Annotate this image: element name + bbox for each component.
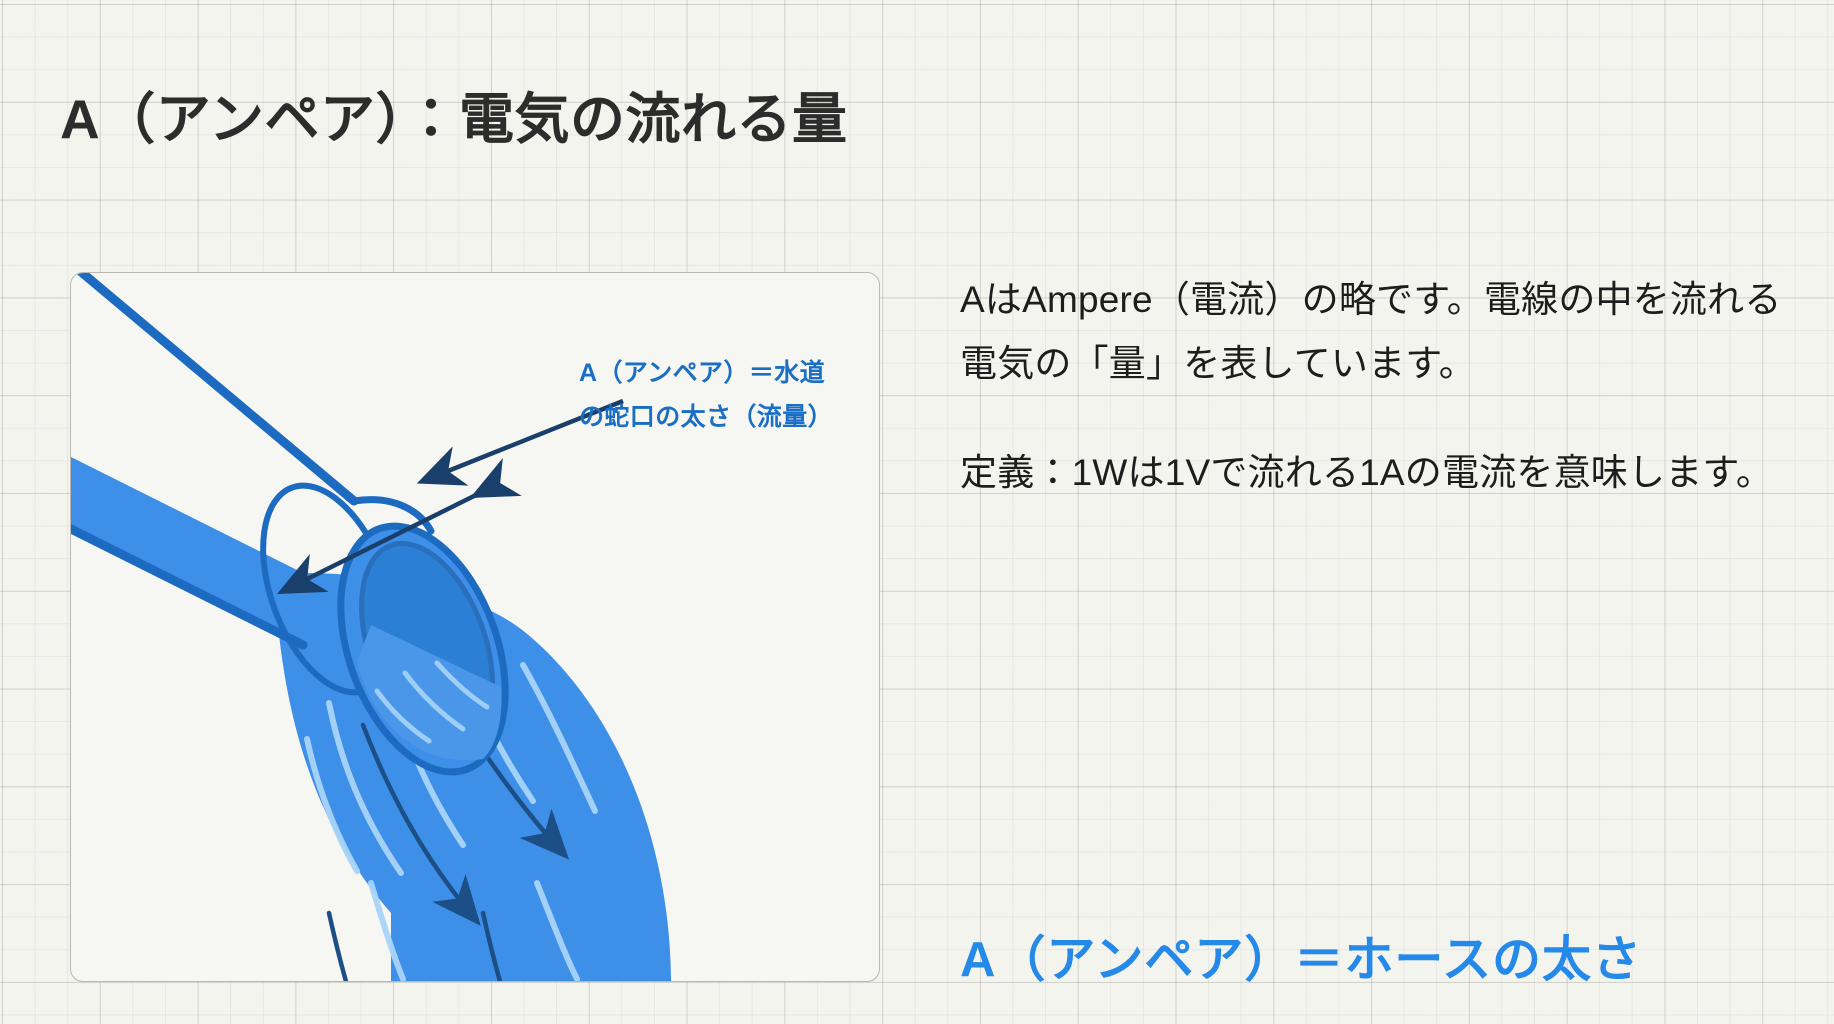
annotation-line-2: の蛇口の太さ（流量） — [579, 402, 833, 431]
paragraph-definition-formal: 定義：1Wは1Vで流れる1Aの電流を意味します。 — [960, 441, 1800, 505]
illustration-panel: A（アンペア）＝水道 の蛇口の太さ（流量） — [70, 272, 880, 982]
body-copy: AはAmpere（電流）の略です。電線の中を流れる電気の「量」を表しています。 … — [960, 268, 1800, 505]
page-title: A（アンペア）：電気の流れる量 — [60, 88, 848, 151]
paragraph-definition-abbreviation: AはAmpere（電流）の略です。電線の中を流れる電気の「量」を表しています。 — [960, 268, 1800, 395]
annotation-line-1: A（アンペア）＝水道 — [579, 358, 825, 387]
summary-line: A（アンペア）＝ホースの太さ — [960, 920, 1642, 991]
hose-nozzle-illustration: A（アンペア）＝水道 の蛇口の太さ（流量） — [71, 273, 880, 982]
slide-background: A（アンペア）：電気の流れる量 — [0, 0, 1834, 1024]
